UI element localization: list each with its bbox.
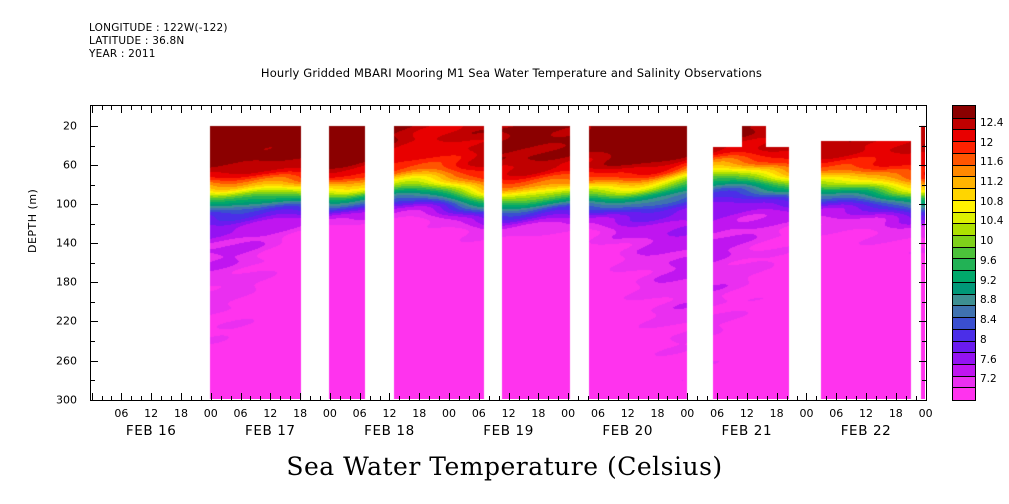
colorbar-label-layer: 12.41211.611.210.810.4109.69.28.88.487.6… [0,0,1009,504]
colorbar-tick-label: 11.6 [980,156,1003,168]
colorbar-tick-label: 10.8 [980,196,1003,208]
colorbar-tick-label: 10.4 [980,215,1003,227]
colorbar-tick-label: 8 [980,334,987,346]
colorbar-tick-label: 10 [980,235,993,247]
x-axis-title: Sea Water Temperature (Celsius) [0,452,1009,481]
colorbar-tick-label: 8.4 [980,314,997,326]
colorbar-tick-label: 9.6 [980,255,997,267]
colorbar-tick-label: 7.6 [980,354,997,366]
colorbar-tick-label: 8.8 [980,294,997,306]
colorbar-tick-label: 12.4 [980,117,1003,129]
colorbar-tick-label: 7.2 [980,373,997,385]
colorbar-tick-label: 12 [980,137,993,149]
colorbar-tick-label: 11.2 [980,176,1003,188]
colorbar-tick-label: 9.2 [980,275,997,287]
